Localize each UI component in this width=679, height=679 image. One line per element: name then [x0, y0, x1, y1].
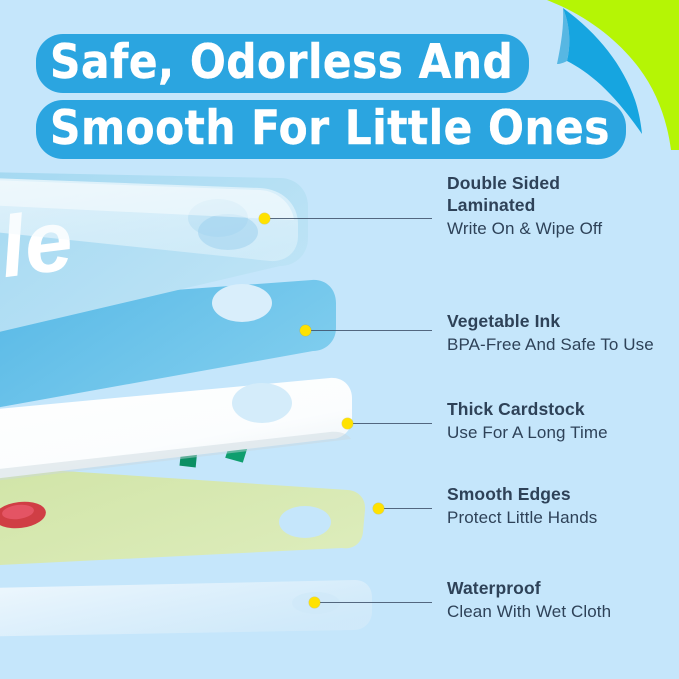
flashcard-stack-illustration: pple: [0, 160, 430, 660]
feature-subtitle-2: BPA-Free And Safe To Use: [447, 333, 654, 356]
feature-subtitle-5: Clean With Wet Cloth: [447, 600, 611, 623]
infographic-canvas: Safe, Odorless And Smooth For Little One…: [0, 0, 679, 679]
feature-heading-4a: Smooth Edges: [447, 483, 597, 505]
feature-label-5: Waterproof Clean With Wet Cloth: [447, 577, 611, 623]
feature-label-3: Thick Cardstock Use For A Long Time: [447, 398, 608, 444]
leader-line-5: [319, 602, 432, 603]
feature-label-2: Vegetable Ink BPA-Free And Safe To Use: [447, 310, 654, 356]
callout-dot-1: [259, 213, 270, 224]
feature-heading-5a: Waterproof: [447, 577, 611, 599]
feature-subtitle-3: Use For A Long Time: [447, 421, 608, 444]
callout-dot-2: [300, 325, 311, 336]
card-laminate-bottom: [0, 580, 372, 638]
callout-dot-4: [373, 503, 384, 514]
leader-line-3: [352, 423, 432, 424]
feature-heading-3a: Thick Cardstock: [447, 398, 608, 420]
callout-dot-5: [309, 597, 320, 608]
headline-block: Safe, Odorless And Smooth For Little One…: [36, 34, 626, 166]
headline-line-2: Smooth For Little Ones: [36, 100, 626, 159]
feature-subtitle-1: Write On & Wipe Off: [447, 217, 602, 240]
leader-line-4: [383, 508, 432, 509]
feature-label-1: Double Sided Laminated Write On & Wipe O…: [447, 172, 602, 240]
callout-dot-3: [342, 418, 353, 429]
feature-subtitle-4: Protect Little Hands: [447, 506, 597, 529]
feature-heading-1b: Laminated: [447, 194, 602, 216]
headline-line-1: Safe, Odorless And: [36, 34, 529, 93]
flashcard-stack-svg: pple: [0, 160, 430, 660]
feature-heading-1a: Double Sided: [447, 172, 602, 194]
feature-heading-2a: Vegetable Ink: [447, 310, 654, 332]
leader-line-2: [310, 330, 432, 331]
leader-line-1: [268, 218, 432, 219]
feature-label-4: Smooth Edges Protect Little Hands: [447, 483, 597, 529]
